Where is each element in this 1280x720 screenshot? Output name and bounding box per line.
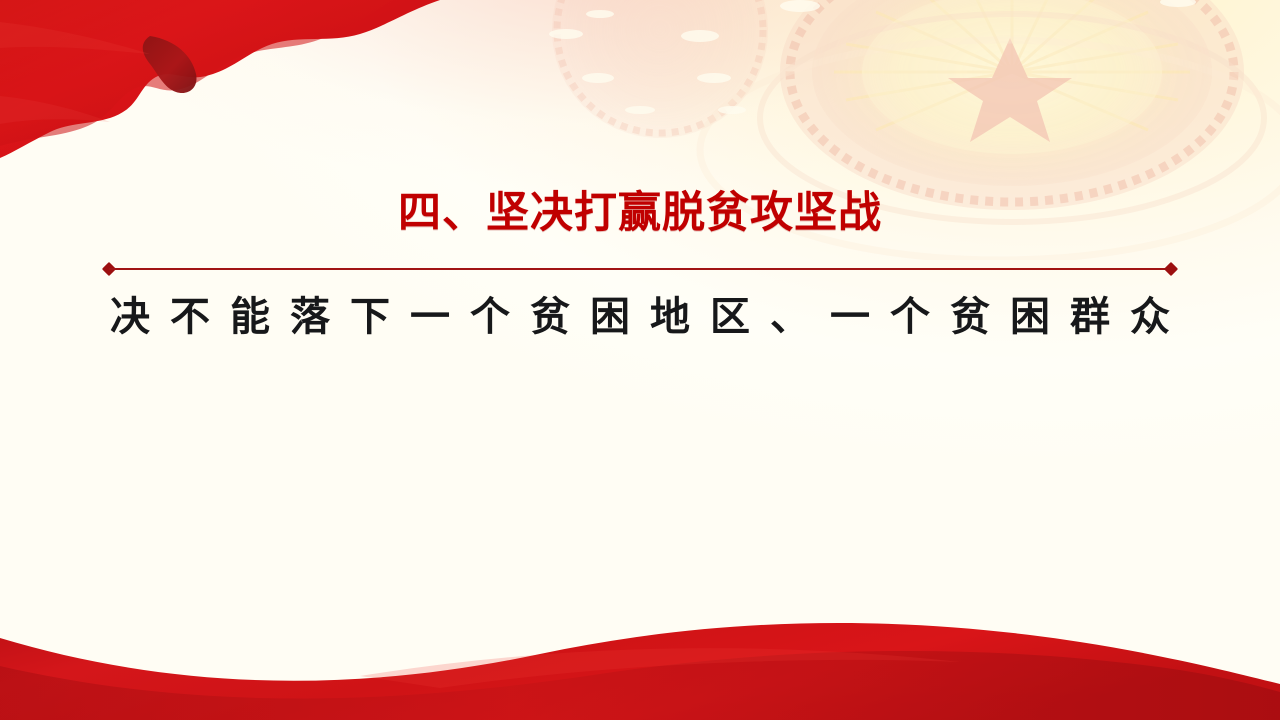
presentation-slide: 四、坚决打赢脱贫攻坚战 决不能落下一个贫困地区、一个贫困群众 [0, 0, 1280, 720]
red-silk-wave-decoration [0, 600, 1280, 720]
scalloped-circle-watermark [552, 0, 768, 138]
red-silk-flag-decoration [0, 0, 440, 200]
page-subtitle: 决不能落下一个贫困地区、一个贫困群众 [0, 290, 1280, 344]
headline-block: 四、坚决打赢脱贫攻坚战 决不能落下一个贫困地区、一个贫困群众 [0, 186, 1280, 344]
divider-diamond-right-icon [1164, 262, 1178, 276]
divider-rule [109, 268, 1171, 270]
page-title: 四、坚决打赢脱贫攻坚战 [0, 186, 1280, 241]
title-divider [109, 262, 1171, 276]
